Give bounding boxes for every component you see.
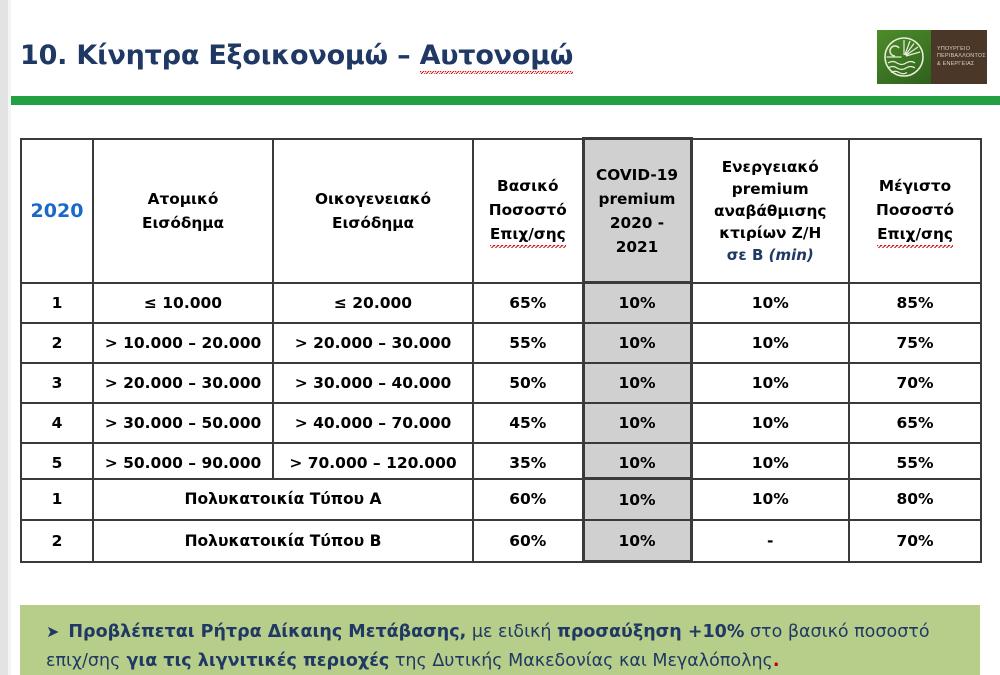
header-line: Βασικό [477, 174, 579, 198]
header-line: Οικογενειακό [277, 187, 469, 211]
note-period: . [773, 651, 780, 671]
header-line: αναβάθμισης [696, 200, 846, 222]
header-sub-text: σε Β [727, 246, 769, 264]
header-max-rate: Μέγιστο Ποσοστό Επιχ/σης [849, 139, 981, 283]
table-row: 2Πολυκατοικία Τύπου Β60%10%-70% [21, 520, 981, 562]
footnote-box: ➤Προβλέπεται Ρήτρα Δίκαιης Μετάβασης, με… [20, 605, 980, 675]
note-bold-1: Προβλέπεται Ρήτρα Δίκαιης Μετάβασης, [68, 622, 466, 642]
cell-max-rate: 70% [849, 520, 981, 562]
header-line: premium [588, 187, 687, 211]
cell-max-rate: 70% [849, 363, 981, 403]
cell-max-rate: 65% [849, 403, 981, 443]
cell-individual-income: ≤ 10.000 [93, 283, 273, 324]
cell-base-rate: 60% [473, 520, 583, 562]
cell-individual-income: > 30.000 – 50.000 [93, 403, 273, 443]
row-number: 3 [21, 363, 93, 403]
table-header-row: 2020 Ατομικό Εισόδημα Οικογενειακό Εισόδ… [21, 139, 981, 283]
cell-building-type: Πολυκατοικία Τύπου Α [93, 479, 473, 521]
note-bold-2: προσαύξηση +10% [557, 622, 744, 642]
header-line: κτιρίων Ζ/Η [696, 222, 846, 244]
cell-base-rate: 55% [473, 323, 583, 363]
page-title: 10. Κίνητρα Εξοικονομώ – Αυτονομώ [20, 40, 850, 74]
sun-over-water-circle-icon [883, 36, 925, 78]
page-title-text: 10. Κίνητρα Εξοικονομώ – [20, 40, 420, 71]
header-line-misspelled: Επιχ/σης [477, 222, 579, 248]
row-number: 1 [21, 283, 93, 324]
header-line: Ποσοστό [853, 198, 977, 222]
header-line: COVID-19 [588, 163, 687, 187]
logo-line-3: & ΕΝΕΡΓΕΙΑΣ [937, 61, 987, 69]
note-bold-3: για τις λιγνιτικές περιοχές [120, 651, 389, 671]
cell-covid-premium: 10% [583, 479, 691, 521]
header-line: premium [696, 178, 846, 200]
header-line: Ατομικό [97, 187, 269, 211]
cell-energy-premium: 10% [691, 283, 849, 324]
header-sub-italic: (min) [769, 246, 814, 264]
table-row: 4> 30.000 – 50.000> 40.000 – 70.00045%10… [21, 403, 981, 443]
header-line: 2020 - 2021 [588, 211, 687, 259]
left-edge-strip [0, 0, 8, 675]
logo-emblem-panel [877, 30, 931, 84]
note-text-3: της Δυτικής Μακεδονίας και Μεγαλόπολης [389, 651, 773, 671]
row-number: 2 [21, 520, 93, 562]
title-underline-bar [11, 96, 1000, 105]
bullet-arrow-icon: ➤ [46, 622, 59, 641]
table-row: 2> 10.000 – 20.000> 20.000 – 30.00055%10… [21, 323, 981, 363]
cell-covid-premium: 10% [583, 283, 691, 324]
cell-covid-premium: 10% [583, 323, 691, 363]
note-misspelled-word: επιχ/σης [46, 647, 120, 675]
cell-covid-premium: 10% [583, 520, 691, 562]
slide-canvas: 10. Κίνητρα Εξοικονομώ – Αυτονομώ [0, 0, 1000, 675]
header-line: Εισόδημα [277, 211, 469, 235]
logo-line-1: ΥΠΟΥΡΓΕΙΟ [937, 46, 987, 54]
table-row: 1≤ 10.000≤ 20.00065%10%10%85% [21, 283, 981, 324]
header-family-income: Οικογενειακό Εισόδημα [273, 139, 473, 283]
cell-base-rate: 50% [473, 363, 583, 403]
cell-base-rate: 60% [473, 479, 583, 521]
cell-energy-premium: - [691, 520, 849, 562]
table-row: 1Πολυκατοικία Τύπου Α60%10%10%80% [21, 479, 981, 521]
header-line: Ποσοστό [477, 198, 579, 222]
header-energy-premium: Ενεργειακό premium αναβάθμισης κτιρίων Ζ… [691, 139, 849, 283]
cell-energy-premium: 10% [691, 403, 849, 443]
page-title-misspelled-word: Αυτονομώ [420, 40, 574, 74]
header-misspelled-word: Επιχ/σης [490, 222, 566, 248]
row-number: 1 [21, 479, 93, 521]
apartment-building-table: 1Πολυκατοικία Τύπου Α60%10%10%80%2Πολυκα… [20, 477, 982, 563]
header-covid-premium: COVID-19 premium 2020 - 2021 [583, 139, 691, 283]
cell-max-rate: 80% [849, 479, 981, 521]
logo-line-2: ΠΕΡΙΒΑΛΛΟΝΤΟΣ [937, 53, 987, 61]
header-line: Εισόδημα [97, 211, 269, 235]
logo-text-panel: ΥΠΟΥΡΓΕΙΟ ΠΕΡΙΒΑΛΛΟΝΤΟΣ & ΕΝΕΡΓΕΙΑΣ [931, 30, 987, 84]
table-row: 3> 20.000 – 30.000> 30.000 – 40.00050%10… [21, 363, 981, 403]
ypen-logo: ΥΠΟΥΡΓΕΙΟ ΠΕΡΙΒΑΛΛΟΝΤΟΣ & ΕΝΕΡΓΕΙΑΣ [877, 30, 987, 84]
cell-building-type: Πολυκατοικία Τύπου Β [93, 520, 473, 562]
cell-individual-income: > 20.000 – 30.000 [93, 363, 273, 403]
cell-energy-premium: 10% [691, 323, 849, 363]
cell-base-rate: 65% [473, 283, 583, 324]
header-line: Ενεργειακό [696, 156, 846, 178]
note-text-1: με ειδική [466, 622, 557, 642]
cell-energy-premium: 10% [691, 479, 849, 521]
cell-family-income: > 30.000 – 40.000 [273, 363, 473, 403]
row-number: 4 [21, 403, 93, 443]
header-year: 2020 [21, 139, 93, 283]
cell-family-income: ≤ 20.000 [273, 283, 473, 324]
header-line-sub: σε Β (min) [696, 244, 846, 266]
header-individual-income: Ατομικό Εισόδημα [93, 139, 273, 283]
cell-base-rate: 45% [473, 403, 583, 443]
header-line: Μέγιστο [853, 174, 977, 198]
cell-max-rate: 85% [849, 283, 981, 324]
header-base-rate: Βασικό Ποσοστό Επιχ/σης [473, 139, 583, 283]
row-number: 2 [21, 323, 93, 363]
cell-family-income: > 20.000 – 30.000 [273, 323, 473, 363]
cell-family-income: > 40.000 – 70.000 [273, 403, 473, 443]
cell-energy-premium: 10% [691, 363, 849, 403]
cell-covid-premium: 10% [583, 363, 691, 403]
cell-covid-premium: 10% [583, 403, 691, 443]
cell-max-rate: 75% [849, 323, 981, 363]
note-text-2: στο βασικό ποσοστό [744, 622, 929, 642]
header-line-misspelled: Επιχ/σης [853, 222, 977, 248]
incentives-table: 2020 Ατομικό Εισόδημα Οικογενειακό Εισόδ… [20, 137, 982, 485]
header-misspelled-word: Επιχ/σης [877, 222, 953, 248]
cell-individual-income: > 10.000 – 20.000 [93, 323, 273, 363]
